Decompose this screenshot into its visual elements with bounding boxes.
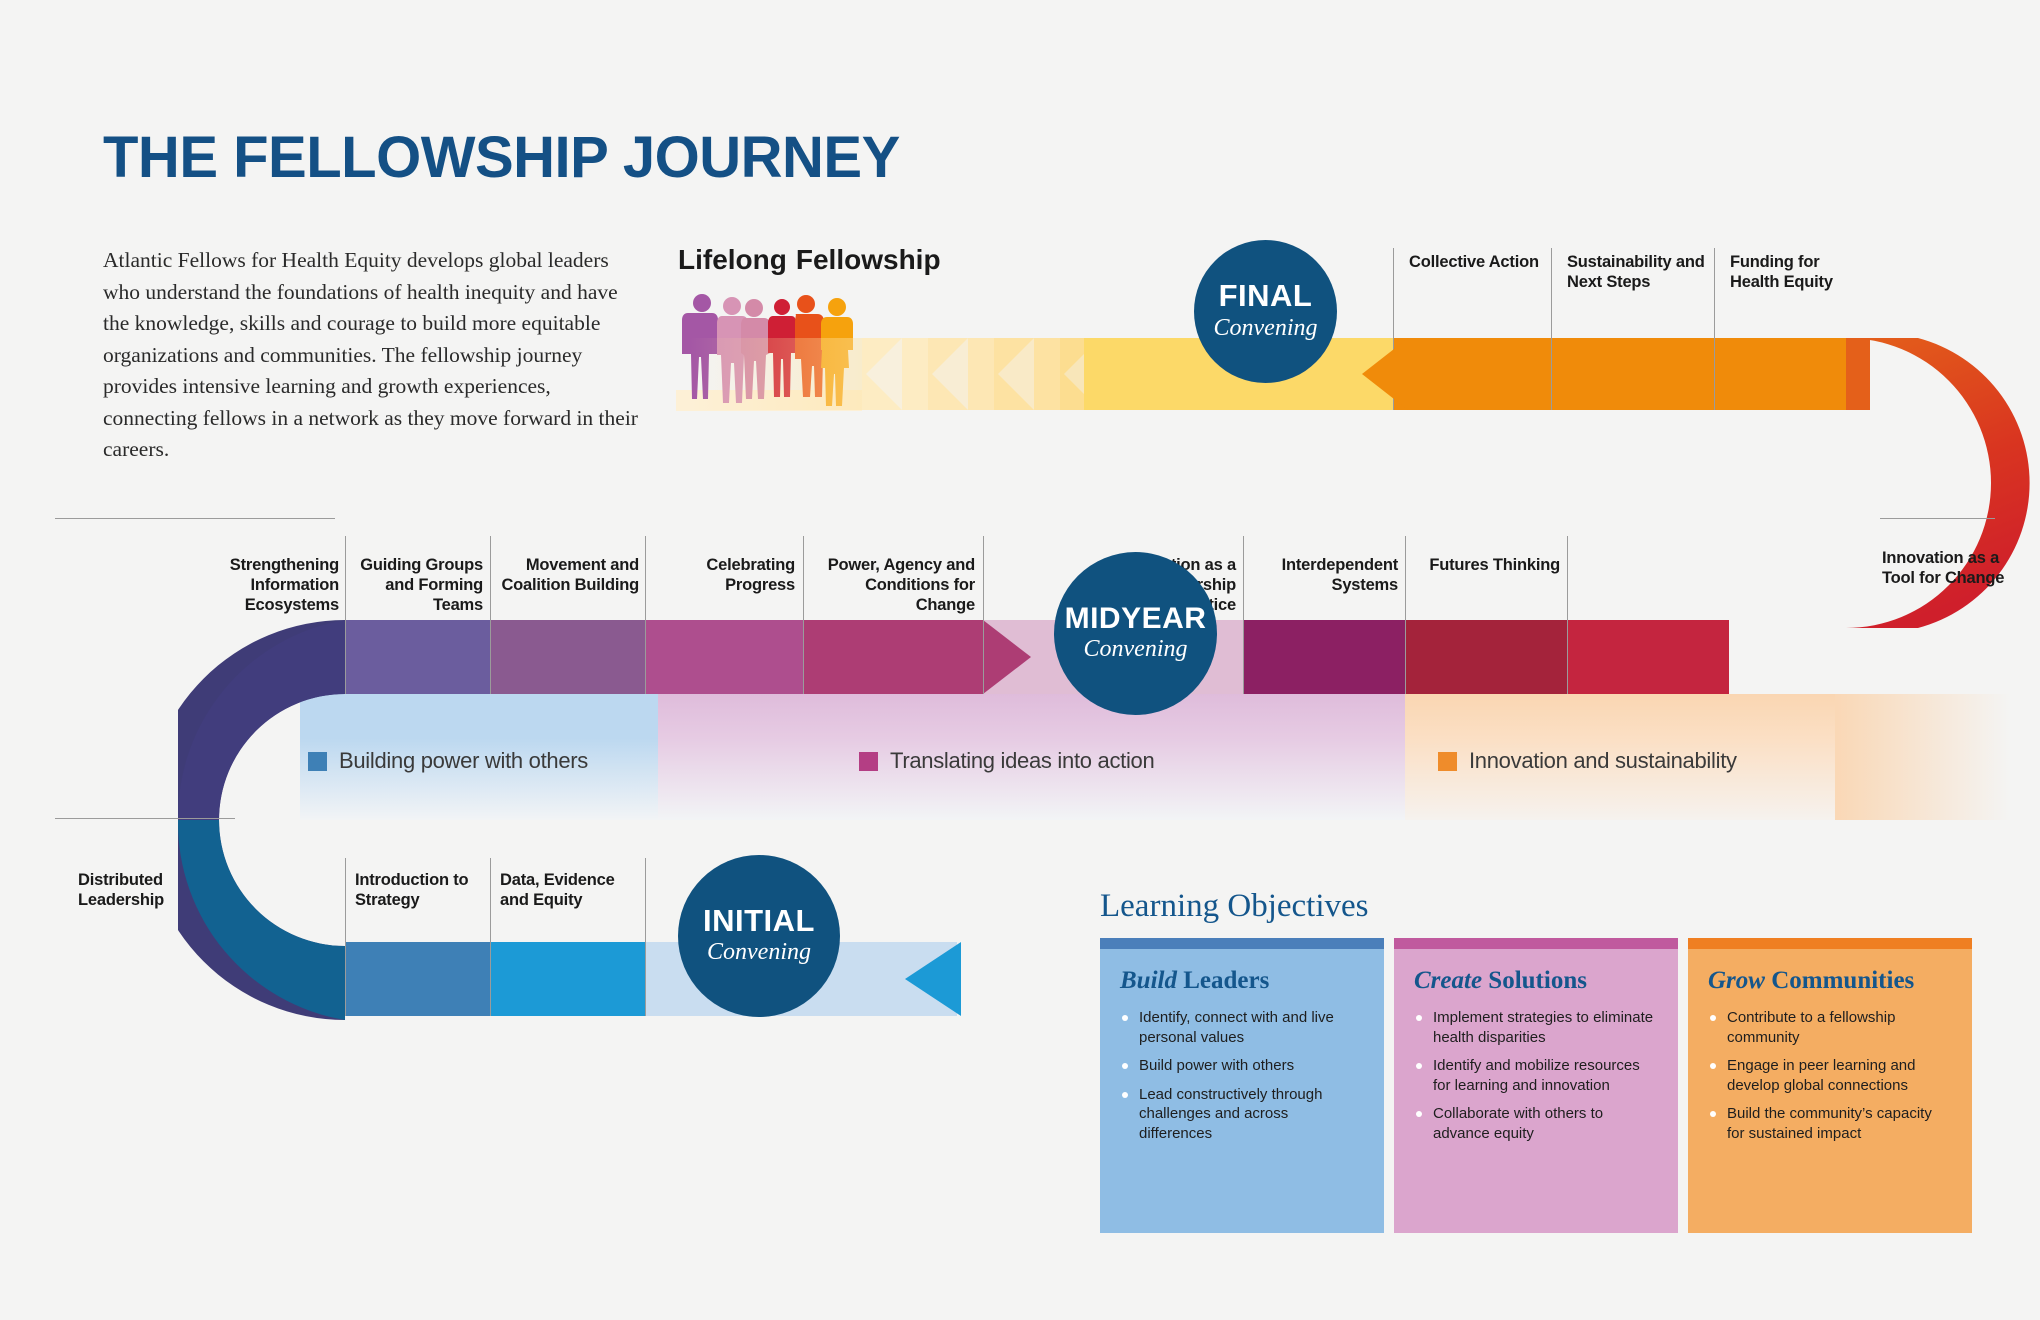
midband-red-2 [1567, 620, 1729, 694]
journey-label-movement-coalition: Movement and Coalition Building [496, 555, 639, 595]
legend-label-2: Translating ideas into action [890, 748, 1154, 774]
list-item: Build the community’s capacity for susta… [1708, 1104, 1952, 1143]
midband-magenta-2 [803, 620, 983, 694]
divider-mid-6 [1243, 536, 1244, 694]
list-item: Lead constructively through challenges a… [1120, 1085, 1364, 1144]
convening-midyear[interactable]: MIDYEAR Convening [1054, 552, 1217, 715]
legend-swatch-icon-1 [308, 752, 327, 771]
botband-arrowhead [905, 942, 961, 1016]
page-title: THE FELLOWSHIP JOURNEY [103, 124, 900, 191]
list-item: Identify and mobilize resources for lear… [1414, 1056, 1658, 1095]
journey-label-power-agency: Power, Agency and Conditions for Change [810, 555, 975, 615]
lifelong-word-2: Fellowship [796, 244, 941, 275]
midband-arrowhead [983, 620, 1031, 694]
divider-mid-7 [1405, 536, 1406, 694]
journey-label-celebrating-progress: Celebrating Progress [652, 555, 795, 595]
card-accent-bar [1688, 938, 1972, 949]
convening-initial-sub: Convening [707, 937, 811, 967]
card-accent-bar [1100, 938, 1384, 949]
legend-item-innovation: Innovation and sustainability [1438, 748, 1737, 774]
chevron-left-icon-1 [862, 338, 928, 410]
journey-label-intro-strategy: Introduction to Strategy [355, 870, 483, 910]
divider-bot-3 [645, 858, 646, 1016]
divider-mid-2 [490, 536, 491, 694]
card-accent-bar [1394, 938, 1678, 949]
journey-label-sustainability: Sustainability and Next Steps [1567, 252, 1717, 292]
midband-purple-2 [490, 620, 645, 694]
learning-objective-card-grow-communities: Grow Communities Contribute to a fellows… [1688, 938, 1972, 1233]
journey-label-interdependent-systems: Interdependent Systems [1250, 555, 1398, 595]
divider-mid-4 [803, 536, 804, 694]
learning-objectives-title: Learning Objectives [1100, 888, 1368, 925]
convening-initial[interactable]: INITIAL Convening [678, 855, 840, 1017]
list-item: Collaborate with others to advance equit… [1414, 1104, 1658, 1143]
list-item: Build power with others [1120, 1056, 1364, 1076]
card-heading: Grow Communities [1708, 967, 1952, 995]
intro-paragraph: Atlantic Fellows for Health Equity devel… [103, 245, 648, 466]
card-bullet-list: Contribute to a fellowship community Eng… [1708, 1008, 1952, 1143]
card-heading: Build Leaders [1120, 967, 1364, 995]
learning-objective-card-create-solutions: Create Solutions Implement strategies to… [1394, 938, 1678, 1233]
midband-purple-1 [345, 620, 490, 694]
legend-label-3: Innovation and sustainability [1469, 748, 1737, 774]
lifelong-fellowship-heading: LifelongFellowship [678, 244, 941, 276]
card-heading-rest: Communities [1765, 967, 1914, 994]
list-item: Identify, connect with and live personal… [1120, 1008, 1364, 1047]
card-heading-emphasis: Build [1120, 967, 1177, 994]
midband-dark-magenta [1243, 620, 1405, 694]
rule-left-lower [55, 818, 235, 819]
top-band-fade [690, 338, 890, 410]
legend-label-1: Building power with others [339, 748, 588, 774]
journey-label-distributed-leadership: Distributed Leadership [78, 870, 228, 910]
journey-label-data-evidence-equity: Data, Evidence and Equity [500, 870, 620, 910]
card-bullet-list: Identify, connect with and live personal… [1120, 1008, 1364, 1143]
journey-label-funding: Funding for Health Equity [1730, 252, 1860, 292]
chevron-left-icon-2 [928, 338, 994, 410]
infographic-canvas: THE FELLOWSHIP JOURNEY Atlantic Fellows … [0, 0, 2040, 1320]
card-heading-emphasis: Create [1414, 967, 1482, 994]
midband-red-1 [1405, 620, 1567, 694]
botband-blue-2 [490, 942, 645, 1016]
top-band-arrowhead [1362, 338, 1408, 410]
convening-final-sub: Convening [1214, 313, 1318, 343]
learning-objective-card-build-leaders: Build Leaders Identify, connect with and… [1100, 938, 1384, 1233]
legend-swatch-icon-3 [1438, 752, 1457, 771]
rule-left-upper [55, 518, 335, 519]
divider-mid-1 [345, 536, 346, 694]
card-heading-rest: Leaders [1177, 967, 1269, 994]
chevron-left-icon-3 [994, 338, 1060, 410]
convening-midyear-name: MIDYEAR [1065, 603, 1207, 635]
legend-item-translating-ideas: Translating ideas into action [859, 748, 1154, 774]
journey-label-futures-thinking: Futures Thinking [1412, 555, 1560, 575]
wash-innovation-fade [1835, 694, 2010, 820]
legend-item-building-power: Building power with others [308, 748, 588, 774]
divider-mid-8 [1567, 536, 1568, 694]
divider-bot-1 [345, 858, 346, 1016]
divider-bot-2 [490, 858, 491, 1016]
list-item: Engage in peer learning and develop glob… [1708, 1056, 1952, 1095]
midband-magenta-1 [645, 620, 803, 694]
convening-initial-name: INITIAL [703, 905, 815, 938]
convening-final[interactable]: FINAL Convening [1194, 240, 1337, 383]
divider-mid-3 [645, 536, 646, 694]
card-bullet-list: Implement strategies to eliminate health… [1414, 1008, 1658, 1143]
botband-blue-1 [345, 942, 490, 1016]
list-item: Implement strategies to eliminate health… [1414, 1008, 1658, 1047]
convening-final-name: FINAL [1219, 280, 1313, 313]
divider-top-2 [1551, 248, 1552, 410]
rule-right-upper [1880, 518, 1995, 519]
card-heading-rest: Solutions [1482, 967, 1587, 994]
journey-label-collective-action: Collective Action [1409, 252, 1559, 272]
journey-label-strengthening-info: Strengthening Information Ecosystems [175, 555, 339, 615]
divider-mid-5 [983, 536, 984, 694]
legend-swatch-icon-2 [859, 752, 878, 771]
card-heading-emphasis: Grow [1708, 967, 1765, 994]
card-heading: Create Solutions [1414, 967, 1658, 995]
convening-midyear-sub: Convening [1084, 634, 1188, 664]
list-item: Contribute to a fellowship community [1708, 1008, 1952, 1047]
journey-label-guiding-groups: Guiding Groups and Forming Teams [348, 555, 483, 615]
journey-label-innovation-tool: Innovation as a Tool for Change [1882, 548, 2012, 588]
lifelong-word-1: Lifelong [678, 244, 787, 275]
